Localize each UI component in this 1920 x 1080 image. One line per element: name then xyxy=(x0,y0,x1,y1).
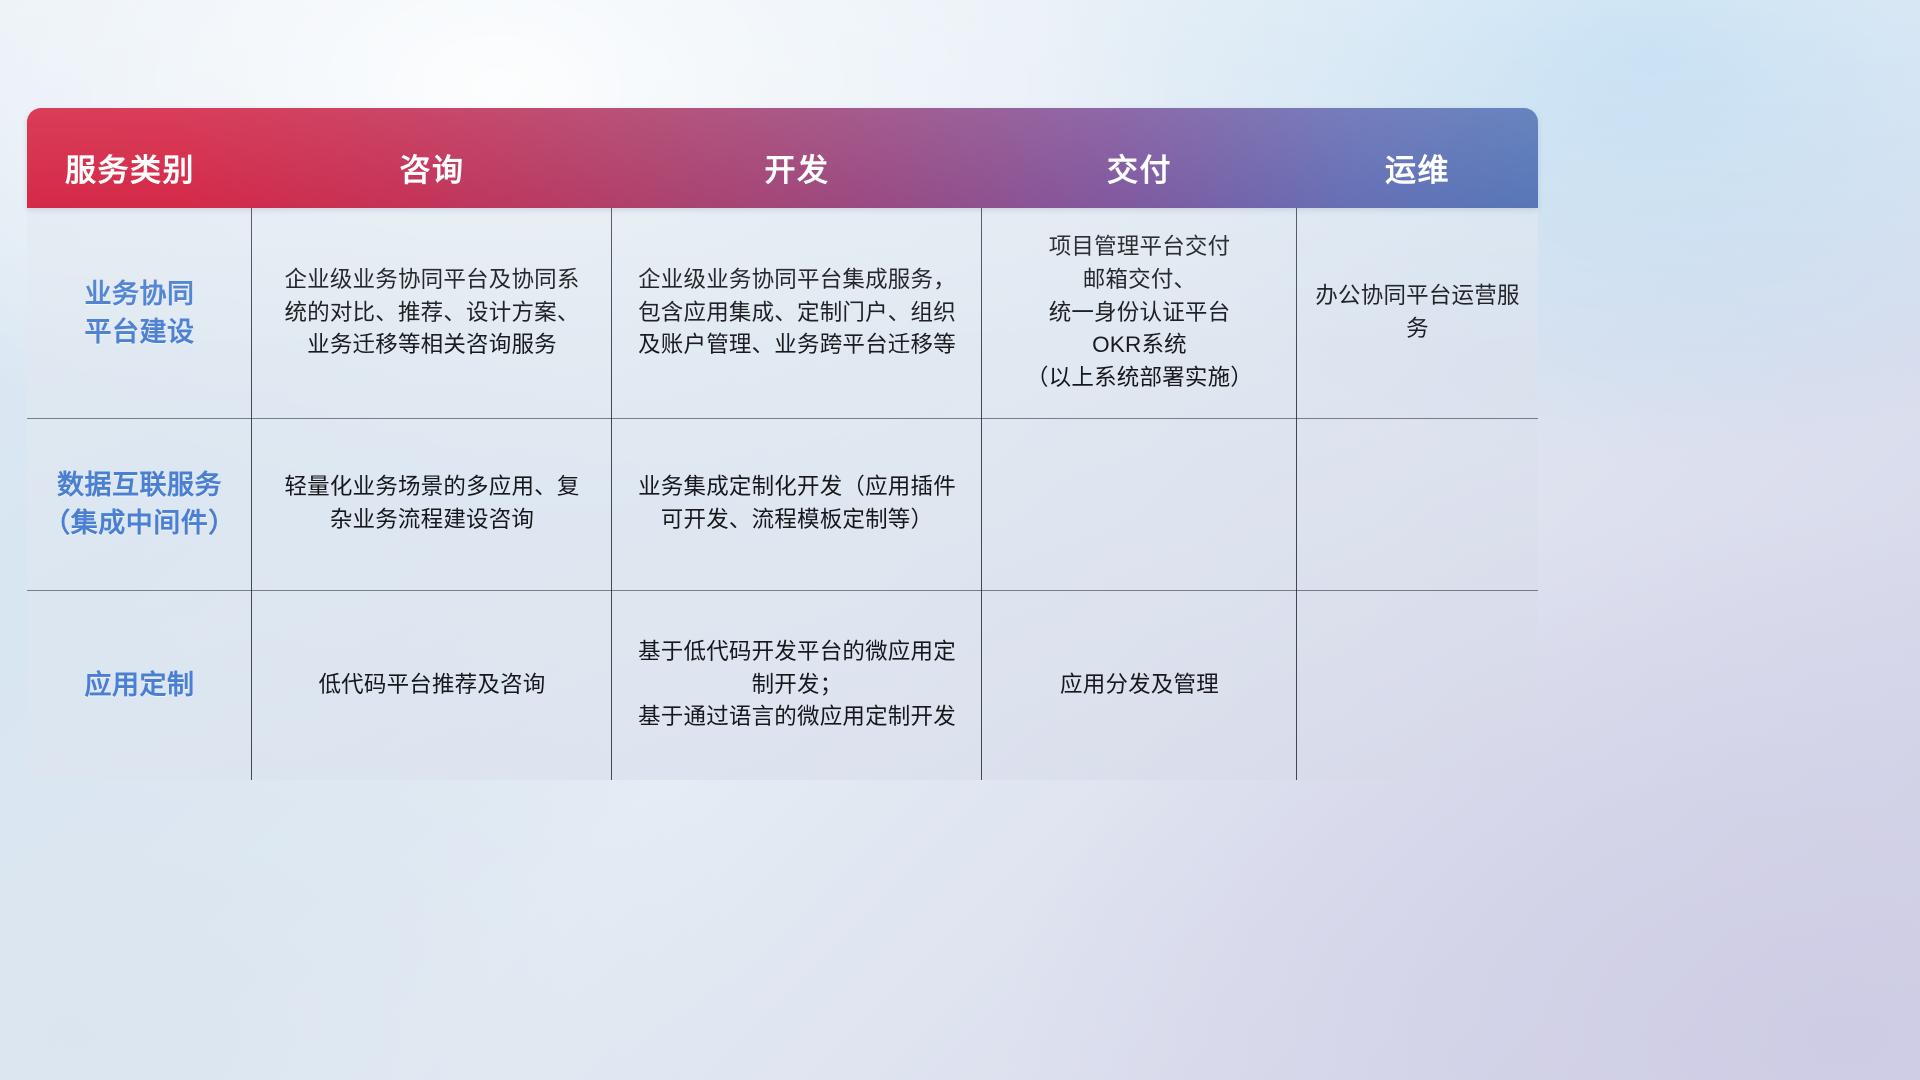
cell-consulting: 企业级业务协同平台及协同系 统的对比、推荐、设计方案、 业务迁移等相关咨询服务 xyxy=(252,208,612,418)
cell-text: 企业级业务协同平台及协同系 统的对比、推荐、设计方案、 业务迁移等相关咨询服务 xyxy=(284,264,579,363)
cell-text: 应用分发及管理 xyxy=(1060,669,1219,702)
cell-delivery: 应用分发及管理 xyxy=(982,590,1297,780)
table-header-row: 服务类别 咨询 开发 交付 运维 xyxy=(27,108,1538,208)
cell-delivery: 项目管理平台交付 邮箱交付、 统一身份认证平台 OKR系统 （以上系统部署实施） xyxy=(982,208,1297,418)
service-matrix-table: 服务类别 咨询 开发 交付 运维 业务协同 平台建设 企业级业务协同平台及协同系… xyxy=(27,108,1538,780)
cell-text: 基于低代码开发平台的微应用定 制开发； 基于通过语言的微应用定制开发 xyxy=(638,636,956,735)
cell-development: 企业级业务协同平台集成服务， 包含应用集成、定制门户、组织 及账户管理、业务跨平… xyxy=(612,208,982,418)
row-category-label: 业务协同 平台建设 xyxy=(85,275,195,352)
cell-text: 业务集成定制化开发（应用插件 可开发、流程模板定制等） xyxy=(638,471,956,537)
cell-text: 项目管理平台交付 邮箱交付、 统一身份认证平台 OKR系统 （以上系统部署实施） xyxy=(1026,231,1253,395)
row-category-cell: 数据互联服务 （集成中间件） xyxy=(27,418,252,590)
column-header-delivery: 交付 xyxy=(982,145,1297,208)
column-header-operations: 运维 xyxy=(1297,145,1538,208)
page-background: 服务类别 咨询 开发 交付 运维 业务协同 平台建设 企业级业务协同平台及协同系… xyxy=(0,0,1920,1080)
table-row: 应用定制 低代码平台推荐及咨询 基于低代码开发平台的微应用定 制开发； 基于通过… xyxy=(27,590,1538,780)
cell-development: 基于低代码开发平台的微应用定 制开发； 基于通过语言的微应用定制开发 xyxy=(612,590,982,780)
table-body: 业务协同 平台建设 企业级业务协同平台及协同系 统的对比、推荐、设计方案、 业务… xyxy=(27,208,1538,780)
row-category-label: 数据互联服务 （集成中间件） xyxy=(43,466,236,543)
cell-text: 办公协同平台运营服务 xyxy=(1313,280,1522,346)
column-header-consulting: 咨询 xyxy=(252,145,612,208)
row-category-label: 应用定制 xyxy=(85,666,195,704)
cell-text: 轻量化业务场景的多应用、复 杂业务流程建设咨询 xyxy=(284,471,579,537)
cell-text: 企业级业务协同平台集成服务， 包含应用集成、定制门户、组织 及账户管理、业务跨平… xyxy=(638,264,956,363)
cell-consulting: 轻量化业务场景的多应用、复 杂业务流程建设咨询 xyxy=(252,418,612,590)
column-header-development: 开发 xyxy=(612,145,982,208)
column-header-category: 服务类别 xyxy=(27,145,252,208)
cell-delivery xyxy=(982,418,1297,590)
table-row: 数据互联服务 （集成中间件） 轻量化业务场景的多应用、复 杂业务流程建设咨询 业… xyxy=(27,418,1538,590)
row-category-cell: 应用定制 xyxy=(27,590,252,780)
cell-consulting: 低代码平台推荐及咨询 xyxy=(252,590,612,780)
cell-development: 业务集成定制化开发（应用插件 可开发、流程模板定制等） xyxy=(612,418,982,590)
cell-text: 低代码平台推荐及咨询 xyxy=(318,669,545,702)
row-category-cell: 业务协同 平台建设 xyxy=(27,208,252,418)
table-row: 业务协同 平台建设 企业级业务协同平台及协同系 统的对比、推荐、设计方案、 业务… xyxy=(27,208,1538,418)
cell-operations xyxy=(1297,418,1538,590)
cell-operations xyxy=(1297,590,1538,780)
cell-operations: 办公协同平台运营服务 xyxy=(1297,208,1538,418)
